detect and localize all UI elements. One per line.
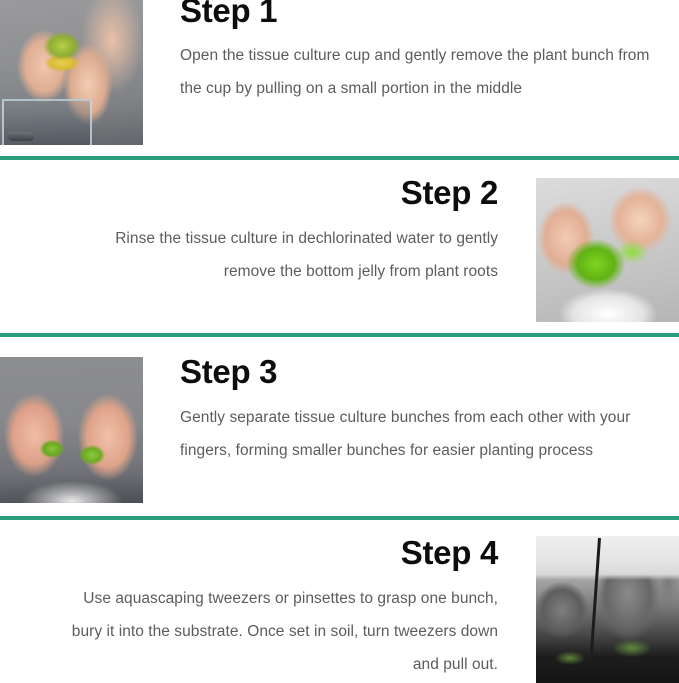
step-4-heading: Step 4 (50, 534, 498, 572)
step-1-photo (0, 0, 143, 145)
step-2-photo-image (536, 178, 679, 322)
step-2-body: Rinse the tissue culture in dechlorinate… (60, 222, 498, 288)
step-3-body: Gently separate tissue culture bunches f… (180, 401, 650, 467)
step-3-heading: Step 3 (180, 353, 650, 391)
step-2-photo (536, 178, 679, 322)
step-row-1: Step 1 Open the tissue culture cup and g… (0, 0, 679, 157)
step-1-text-block: Step 1 Open the tissue culture cup and g… (180, 0, 650, 105)
step-2-text-block: Step 2 Rinse the tissue culture in dechl… (60, 174, 498, 288)
step-4-text-block: Step 4 Use aquascaping tweezers or pinse… (50, 534, 498, 681)
step-2-heading: Step 2 (60, 174, 498, 212)
step-3-photo (0, 357, 143, 503)
step-4-photo (536, 536, 679, 683)
step-1-body: Open the tissue culture cup and gently r… (180, 39, 650, 105)
tank-clip (8, 132, 34, 141)
step-4-body: Use aquascaping tweezers or pinsettes to… (50, 582, 498, 681)
step-4-photo-image (536, 536, 679, 683)
step-1-heading: Step 1 (180, 0, 650, 30)
step-3-text-block: Step 3 Gently separate tissue culture bu… (180, 353, 650, 467)
step-3-photo-image (0, 357, 143, 503)
steps-infographic: Step 1 Open the tissue culture cup and g… (0, 0, 679, 683)
